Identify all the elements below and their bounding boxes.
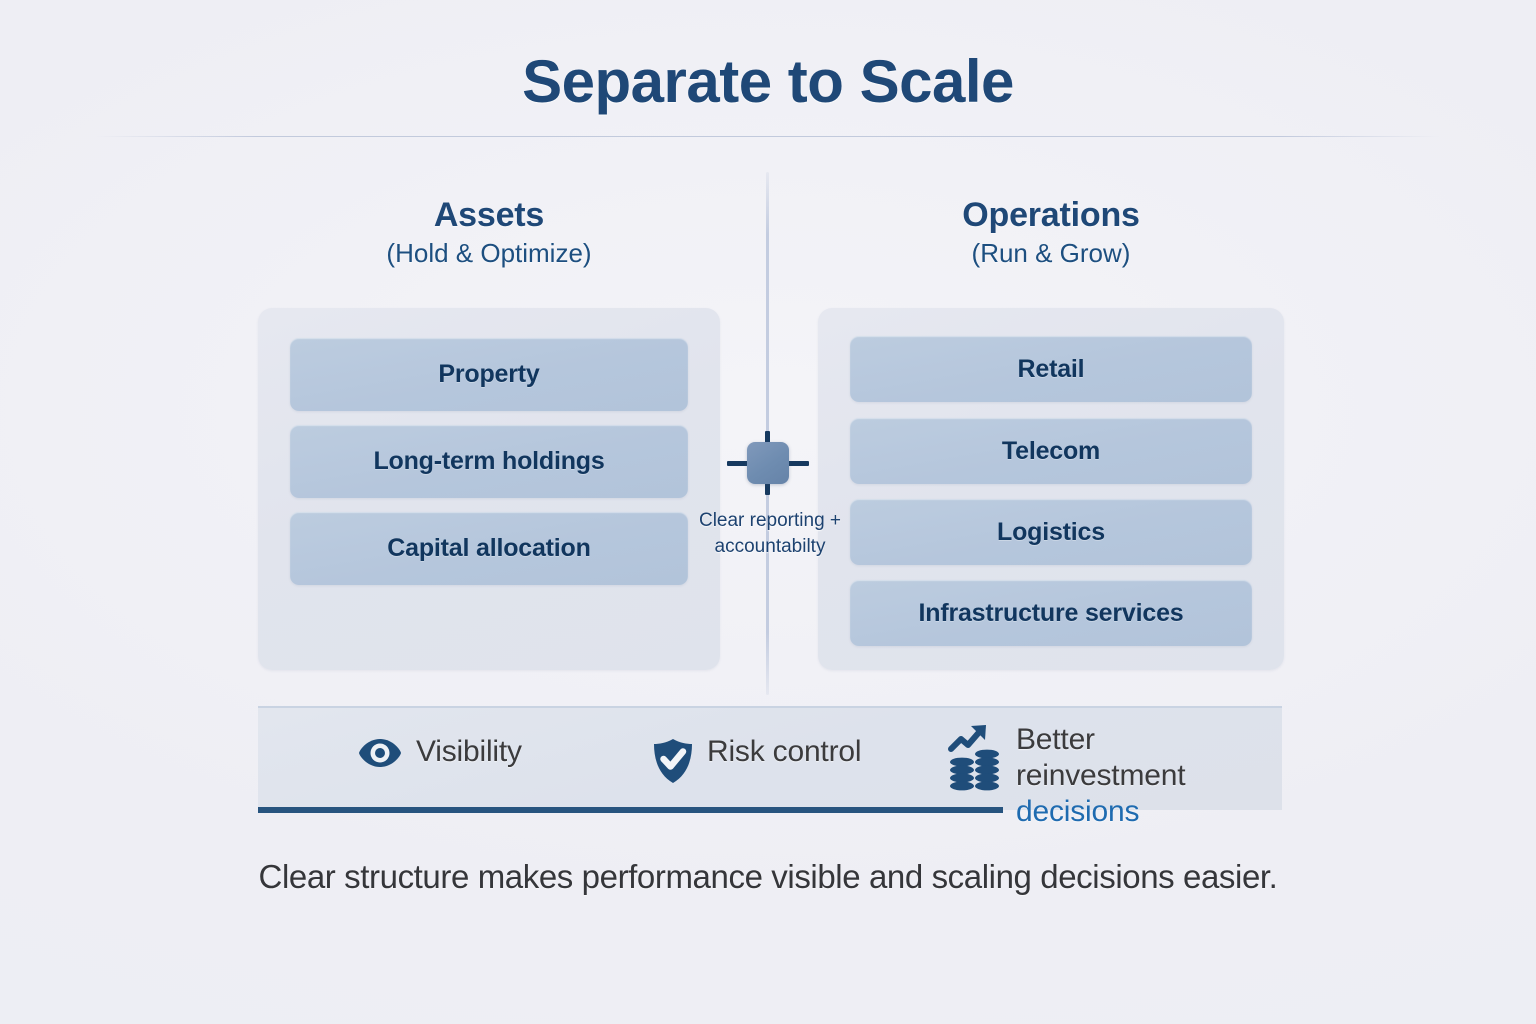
benefit-risk-control-label: Risk control (707, 734, 861, 770)
benefit-risk-control: Risk control (653, 734, 861, 789)
benefits-bar-bottom-rule (258, 807, 1003, 813)
shield-check-icon (653, 738, 693, 789)
operations-item-logistics[interactable]: Logistics (850, 499, 1252, 565)
divider-label: Clear reporting + accountabilty (690, 508, 850, 560)
column-heading-assets-subtitle: (Hold & Optimize) (258, 235, 720, 271)
junction-node-icon (747, 442, 789, 484)
eye-icon (358, 738, 402, 773)
operations-item-infrastructure-services[interactable]: Infrastructure services (850, 580, 1252, 646)
caption: Clear structure makes performance visibl… (0, 858, 1536, 896)
assets-item-property[interactable]: Property (290, 338, 688, 411)
title-divider-rule (96, 136, 1440, 137)
operations-item-telecom[interactable]: Telecom (850, 418, 1252, 484)
column-heading-operations: Operations (Run & Grow) (818, 195, 1284, 271)
column-heading-assets-title: Assets (258, 195, 720, 235)
assets-item-long-term-holdings[interactable]: Long-term holdings (290, 425, 688, 498)
page-title: Separate to Scale (0, 47, 1536, 116)
operations-panel: Retail Telecom Logistics Infrastructure … (818, 308, 1284, 670)
benefit-reinvestment-decisions: Better reinvestment decisions (948, 722, 1228, 830)
assets-item-capital-allocation[interactable]: Capital allocation (290, 512, 688, 585)
column-heading-assets: Assets (Hold & Optimize) (258, 195, 720, 271)
benefit-visibility-label: Visibility (416, 734, 522, 770)
assets-panel: Property Long-term holdings Capital allo… (258, 308, 720, 670)
growth-coins-icon (948, 722, 1002, 799)
infographic-canvas: Separate to Scale Assets (Hold & Optimiz… (0, 0, 1536, 1024)
benefits-bar: Visibility Risk control (258, 706, 1282, 810)
column-heading-operations-title: Operations (818, 195, 1284, 235)
benefit-visibility: Visibility (358, 734, 522, 773)
column-heading-operations-subtitle: (Run & Grow) (818, 235, 1284, 271)
benefit-label-head: Better reinvestment (1016, 723, 1185, 792)
benefit-reinvestment-decisions-label: Better reinvestment decisions (1016, 722, 1228, 830)
operations-item-retail[interactable]: Retail (850, 336, 1252, 402)
benefit-label-tail: decisions (1016, 795, 1139, 828)
